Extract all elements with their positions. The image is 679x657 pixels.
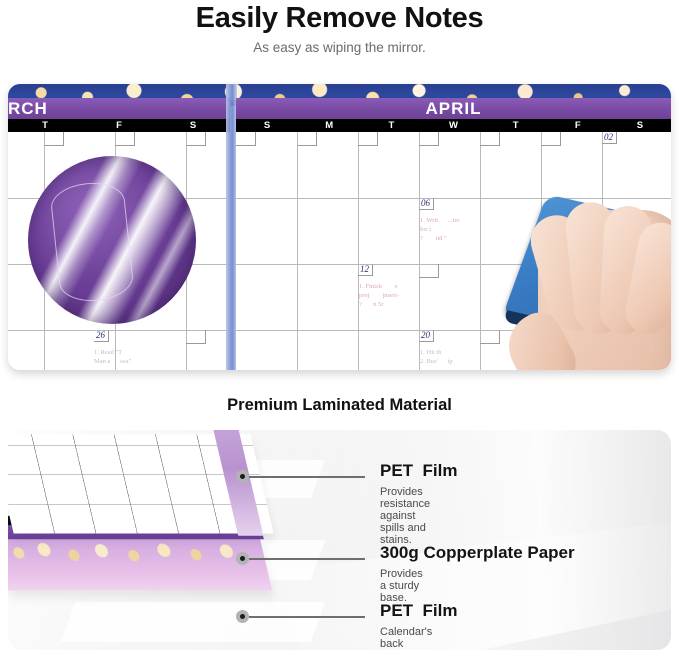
layer-title: PET Film: [380, 601, 457, 621]
product-infographic: Easily Remove Notes As easy as wiping th…: [0, 0, 679, 657]
handwritten-note-26: 1. Read "T Man a sea": [94, 348, 131, 366]
dow-letter: F: [547, 119, 609, 132]
exploded-layers-illustration: [8, 434, 302, 646]
hand-with-eraser: [498, 196, 671, 370]
month-label-left: RCH: [8, 98, 230, 119]
callout-marker-icon: [236, 552, 249, 565]
date-26: 26: [94, 330, 109, 342]
month-label-right: APRIL: [236, 98, 671, 119]
callout-leader-line: [249, 476, 365, 478]
page-title: Easily Remove Notes: [0, 2, 679, 35]
day-of-week-row-left: T F S: [8, 119, 230, 132]
handwritten-note-20: 1. Hit th 2. Bus' ip: [420, 348, 453, 366]
calendar-page-left: RCH T F S 26 1. Read "T Man a sea": [8, 98, 230, 370]
handwritten-note-06: 1. Writ ...ter for t ? nd ": [420, 216, 460, 243]
gold-floral-artwork: [8, 542, 261, 565]
date-06: 06: [419, 198, 434, 210]
layer-title: 300g Copperplate Paper: [380, 543, 575, 563]
layer-title: PET Film: [380, 461, 457, 481]
dow-letter: F: [82, 119, 156, 132]
page-subtitle: As easy as wiping the mirror.: [0, 40, 679, 55]
handwritten-note-12: 1. Finish e proj jnsert- ? n 5r: [359, 282, 399, 309]
laminated-material-panel: PET Film Provides resistance against spi…: [8, 430, 671, 650]
callout-marker-icon: [236, 470, 249, 483]
date-20: 20: [419, 330, 434, 342]
callout-marker-icon: [236, 610, 249, 623]
layer-description: Provides a sturdy base.: [380, 568, 423, 604]
layer-description: Provides resistance against spills and s…: [380, 486, 430, 546]
film-curl-shape: [49, 179, 135, 304]
dow-letter: T: [360, 119, 422, 132]
laminate-magnifier-bubble: [28, 156, 196, 324]
dow-letter: T: [8, 119, 82, 132]
dow-letter: T: [485, 119, 547, 132]
calendar-photo: RCH T F S 26 1. Read "T Man a sea": [8, 84, 671, 370]
dow-letter: S: [156, 119, 230, 132]
callout-leader-line: [249, 616, 365, 618]
dow-letter: W: [422, 119, 484, 132]
dow-letter: S: [609, 119, 671, 132]
date-02: 02: [602, 132, 617, 144]
dow-letter: S: [236, 119, 298, 132]
callout-leader-line: [249, 558, 365, 560]
dow-letter: M: [298, 119, 360, 132]
date-12: 12: [358, 264, 373, 276]
material-section-title: Premium Laminated Material: [0, 396, 679, 415]
day-of-week-row-right: S M T W T F S: [236, 119, 671, 132]
layer-description: Calendar's back layer.: [380, 626, 432, 650]
